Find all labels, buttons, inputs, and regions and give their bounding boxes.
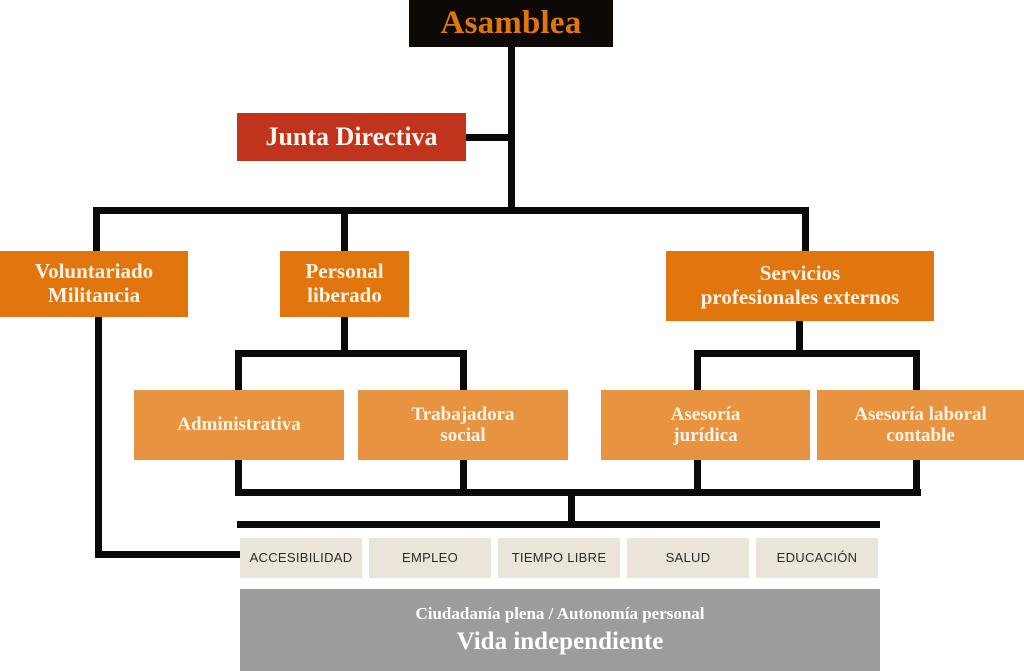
org-chart: Asamblea Junta Directiva Voluntariado Mi… [0, 0, 1024, 671]
connector-servicios-bus [694, 350, 920, 357]
node-administrativa-label: Administrativa [134, 414, 344, 435]
node-trabajadora-social[interactable]: Trabajadora social [358, 390, 568, 460]
connector-voluntariado-leg [95, 316, 102, 558]
label-line-2: Militancia [0, 284, 188, 308]
connector-board-stub [464, 134, 512, 141]
node-asamblea[interactable]: Asamblea [409, 0, 613, 47]
connector-drop-administrativa [235, 350, 242, 390]
connector-root-trunk [508, 46, 515, 212]
node-servicios-profesionales-externos-label: Servicios profesionales externos [666, 262, 934, 309]
connector-drop-trabajadora [460, 350, 467, 390]
connector-personal-bus [235, 350, 467, 357]
node-asesoria-laboral-contable[interactable]: Asesoría laboral contable [817, 390, 1024, 460]
label-line-1: Personal [280, 260, 409, 284]
tag-salud[interactable]: SALUD [627, 538, 749, 578]
connector-drop-servicios [802, 207, 809, 255]
label-line-2: jurídica [601, 425, 810, 446]
node-personal-liberado[interactable]: Personal liberado [280, 251, 409, 317]
node-trabajadora-social-label: Trabajadora social [358, 404, 568, 447]
node-vida-independiente[interactable]: Ciudadanía plena / Autonomía personal Vi… [240, 589, 880, 671]
node-voluntariado-militancia[interactable]: Voluntariado Militancia [0, 251, 188, 317]
label-line-1: Voluntariado [0, 260, 188, 284]
label-line-2: liberado [280, 284, 409, 308]
label-line-1: Administrativa [134, 414, 344, 435]
node-junta-directiva-label: Junta Directiva [237, 122, 466, 151]
node-asesoria-laboral-contable-label: Asesoría laboral contable [817, 404, 1024, 447]
tag-accesibilidad-label: ACCESIBILIDAD [240, 551, 362, 566]
connector-drop-voluntariado [93, 207, 100, 255]
label-line-2: social [358, 425, 568, 446]
label-line-1: Asesoría laboral [817, 404, 1024, 425]
connector-voluntariado-to-tags [95, 551, 240, 558]
footer-title: Vida independiente [240, 628, 880, 656]
connector-collector-bar [235, 489, 921, 496]
label-line-2: profesionales externos [666, 286, 934, 310]
connector-drop-personal [341, 207, 348, 255]
tag-empleo[interactable]: EMPLEO [369, 538, 491, 578]
footer-subtitle: Ciudadanía plena / Autonomía personal [240, 604, 880, 623]
connector-drop-asesoria-laboral [913, 350, 920, 390]
label-line-2: contable [817, 425, 1024, 446]
label-line-1: Asesoría [601, 404, 810, 425]
node-voluntariado-militancia-label: Voluntariado Militancia [0, 260, 188, 307]
connector-level2-bus [93, 207, 809, 214]
node-asesoria-juridica[interactable]: Asesoría jurídica [601, 390, 810, 460]
node-administrativa[interactable]: Administrativa [134, 390, 344, 460]
node-asamblea-label: Asamblea [409, 5, 613, 42]
node-asesoria-juridica-label: Asesoría jurídica [601, 404, 810, 447]
connector-drop-asesoria-juridica [694, 350, 701, 390]
connector-tags-bar [237, 521, 880, 528]
tag-empleo-label: EMPLEO [369, 551, 491, 566]
tag-educacion[interactable]: EDUCACIÓN [756, 538, 878, 578]
node-junta-directiva[interactable]: Junta Directiva [237, 113, 466, 161]
tag-tiempo-libre[interactable]: TIEMPO LIBRE [498, 538, 620, 578]
node-personal-liberado-label: Personal liberado [280, 260, 409, 307]
tag-educacion-label: EDUCACIÓN [756, 551, 878, 566]
tag-tiempo-libre-label: TIEMPO LIBRE [498, 551, 620, 566]
node-servicios-profesionales-externos[interactable]: Servicios profesionales externos [666, 251, 934, 321]
label-line-1: Trabajadora [358, 404, 568, 425]
tag-accesibilidad[interactable]: ACCESIBILIDAD [240, 538, 362, 578]
tag-salud-label: SALUD [627, 551, 749, 566]
label-line-1: Servicios [666, 262, 934, 286]
